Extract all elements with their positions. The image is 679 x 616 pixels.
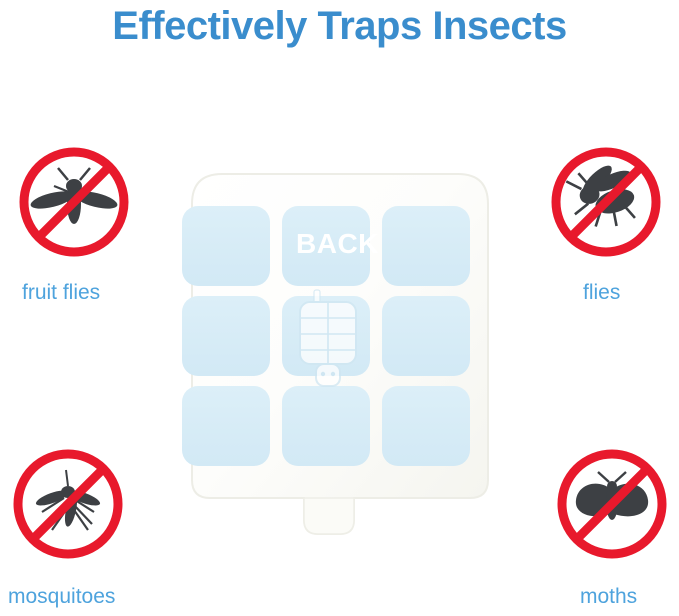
adhesive-pad — [382, 206, 470, 286]
badge-label-fruit-flies: fruit flies — [22, 281, 100, 305]
badge-label-moths: moths — [580, 585, 637, 609]
adhesive-pad — [182, 206, 270, 286]
adhesive-pad — [182, 386, 270, 466]
adhesive-pad — [182, 296, 270, 376]
no-fly-icon — [546, 142, 666, 262]
no-fruit-fly-icon — [14, 142, 134, 262]
badge-label-mosquitoes: mosquitoes — [8, 585, 115, 609]
glue-trap-refill-card: BACK — [158, 168, 522, 558]
no-mosquito-icon — [8, 444, 128, 564]
device-bottom-tab — [304, 498, 354, 534]
badge-label-flies: flies — [583, 281, 620, 305]
product-feature-image: Effectively Traps Insects — [0, 0, 679, 616]
no-moth-icon — [552, 444, 672, 564]
adhesive-pad — [282, 386, 370, 466]
page-title: Effectively Traps Insects — [0, 4, 679, 49]
adhesive-pad — [382, 296, 470, 376]
device-back-label: BACK — [296, 228, 379, 260]
adhesive-pad — [382, 386, 470, 466]
